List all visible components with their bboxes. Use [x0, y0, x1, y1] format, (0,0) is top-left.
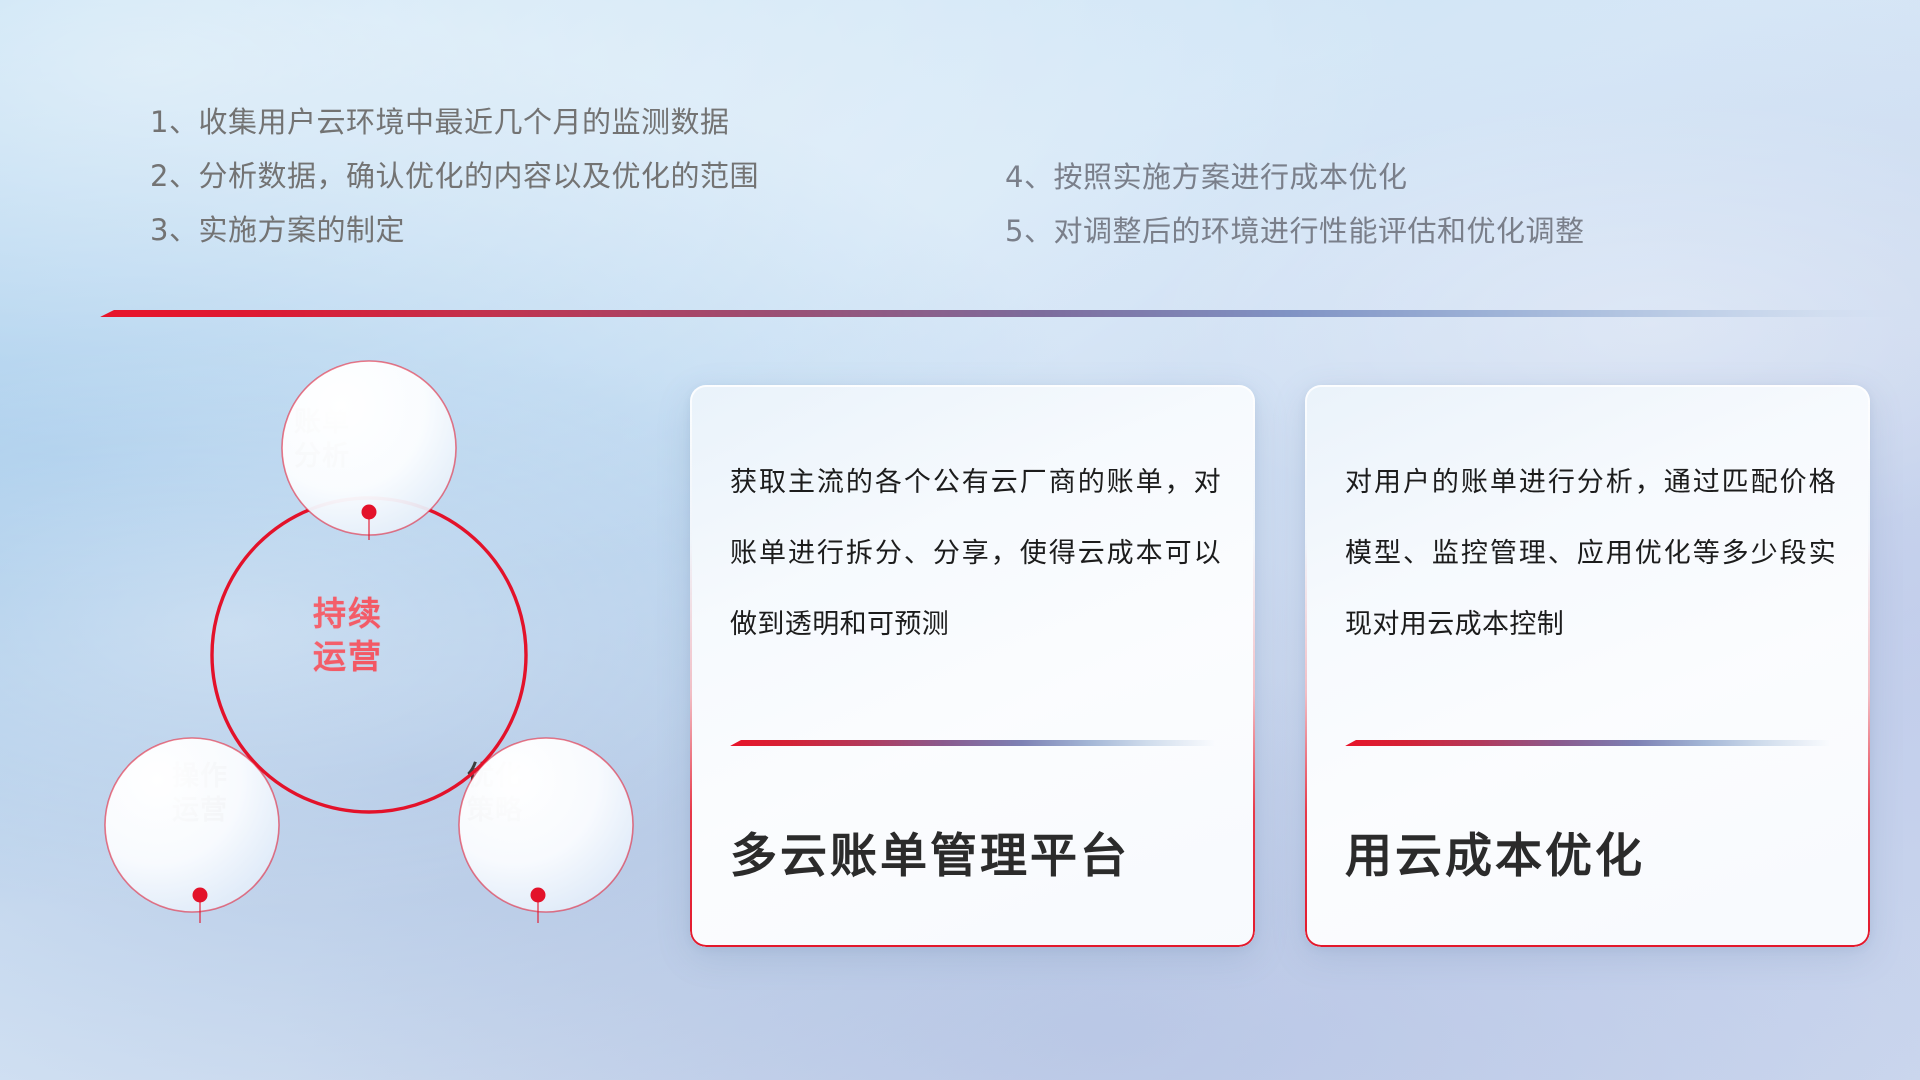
card-divider — [730, 740, 1215, 746]
venn-circle-left — [105, 738, 279, 912]
venn-diagram — [100, 355, 660, 955]
feature-card-multicloud-billing[interactable]: 获取主流的各个公有云厂商的账单，对账单进行拆分、分享，使得云成本可以做到透明和可… — [690, 385, 1255, 947]
slide-canvas: 1、收集用户云环境中最近几个月的监测数据 2、分析数据，确认优化的内容以及优化的… — [0, 0, 1920, 1080]
step-item: 1、收集用户云环境中最近几个月的监测数据 — [150, 95, 759, 149]
venn-node-left — [193, 888, 208, 903]
card-body-text: 获取主流的各个公有云厂商的账单，对账单进行拆分、分享，使得云成本可以做到透明和可… — [730, 447, 1221, 660]
step-item: 5、对调整后的环境进行性能评估和优化调整 — [1005, 204, 1584, 258]
step-item: 2、分析数据，确认优化的内容以及优化的范围 — [150, 149, 759, 203]
venn-circle-right — [459, 738, 633, 912]
step-item: 3、实施方案的制定 — [150, 203, 759, 257]
venn-node-top — [362, 505, 377, 520]
card-divider — [1345, 740, 1830, 746]
steps-right-column: 4、按照实施方案进行成本优化 5、对调整后的环境进行性能评估和优化调整 — [1005, 150, 1584, 258]
venn-svg — [100, 355, 660, 955]
feature-card-cloud-cost-optimization[interactable]: 对用户的账单进行分析，通过匹配价格模型、监控管理、应用优化等多少段实现对用云成本… — [1305, 385, 1870, 947]
steps-left-column: 1、收集用户云环境中最近几个月的监测数据 2、分析数据，确认优化的内容以及优化的… — [150, 95, 759, 257]
step-item: 4、按照实施方案进行成本优化 — [1005, 150, 1584, 204]
venn-node-right — [531, 888, 546, 903]
section-divider — [100, 310, 1900, 317]
card-title-text: 用云成本优化 — [1345, 817, 1840, 886]
venn-connector-ring — [212, 498, 526, 812]
card-body-text: 对用户的账单进行分析，通过匹配价格模型、监控管理、应用优化等多少段实现对用云成本… — [1345, 447, 1836, 660]
card-title-text: 多云账单管理平台 — [730, 817, 1225, 886]
